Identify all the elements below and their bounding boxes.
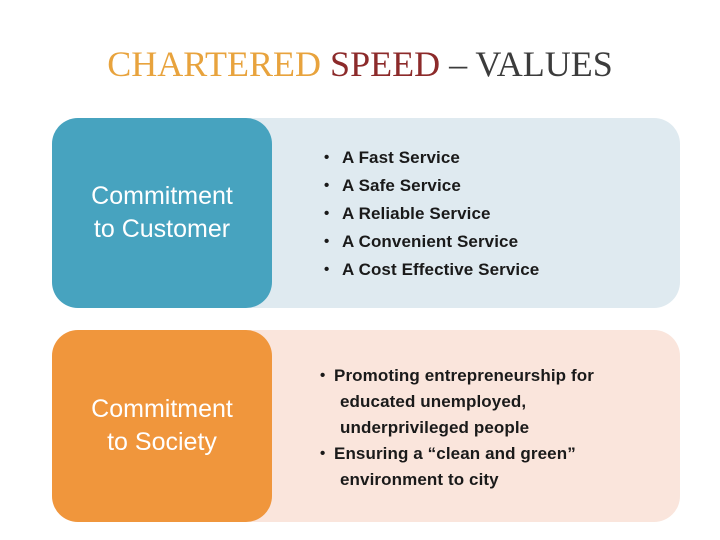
slide: CHARTERED SPEED – VALUES Commitment to C…	[0, 0, 720, 540]
list-item: • Promoting entrepreneurship for	[320, 363, 680, 389]
list-item-continuation: underprivileged people	[320, 415, 680, 441]
list-item-label: underprivileged people	[320, 415, 680, 441]
list-item-label: A Safe Service	[342, 172, 680, 200]
page-title-part-2: SPEED	[330, 44, 449, 84]
list-item-label: Promoting entrepreneurship for	[334, 363, 680, 389]
bullet-icon: •	[320, 441, 334, 467]
list-item-label: A Reliable Service	[342, 200, 680, 228]
list-item-label: A Cost Effective Service	[342, 256, 680, 284]
list-item-continuation: educated unemployed,	[320, 389, 680, 415]
list-item: • A Convenient Service	[324, 228, 680, 256]
bullet-icon: •	[324, 256, 342, 284]
list-item: • Ensuring a “clean and green”	[320, 441, 680, 467]
bullet-icon: •	[324, 228, 342, 256]
value-row-society-label-box: Commitment to Society	[52, 330, 272, 522]
value-row-customer-bullets: • A Fast Service • A Safe Service • A Re…	[324, 118, 680, 308]
list-item: • A Cost Effective Service	[324, 256, 680, 284]
list-item-label: A Convenient Service	[342, 228, 680, 256]
value-row-society: Commitment to Society • Promoting entrep…	[52, 330, 680, 522]
list-item: • A Safe Service	[324, 172, 680, 200]
list-item-label: educated unemployed,	[320, 389, 680, 415]
bullet-icon: •	[324, 200, 342, 228]
list-item: • A Fast Service	[324, 144, 680, 172]
bullet-icon: •	[324, 144, 342, 172]
list-item: • A Reliable Service	[324, 200, 680, 228]
list-item-label: environment to city	[320, 467, 680, 493]
bullet-icon: •	[320, 363, 334, 389]
page-title-part-3: – VALUES	[449, 44, 613, 84]
list-item-continuation: environment to city	[320, 467, 680, 493]
page-title-part-1: CHARTERED	[107, 44, 330, 84]
list-item-label: Ensuring a “clean and green”	[334, 441, 680, 467]
page-title: CHARTERED SPEED – VALUES	[0, 42, 720, 86]
value-row-customer: Commitment to Customer • A Fast Service …	[52, 118, 680, 308]
value-row-society-bullets: • Promoting entrepreneurship for educate…	[320, 330, 680, 522]
list-item-label: A Fast Service	[342, 144, 680, 172]
bullet-icon: •	[324, 172, 342, 200]
value-row-customer-label: Commitment to Customer	[91, 180, 233, 246]
value-row-society-label: Commitment to Society	[91, 393, 233, 459]
value-row-customer-label-box: Commitment to Customer	[52, 118, 272, 308]
